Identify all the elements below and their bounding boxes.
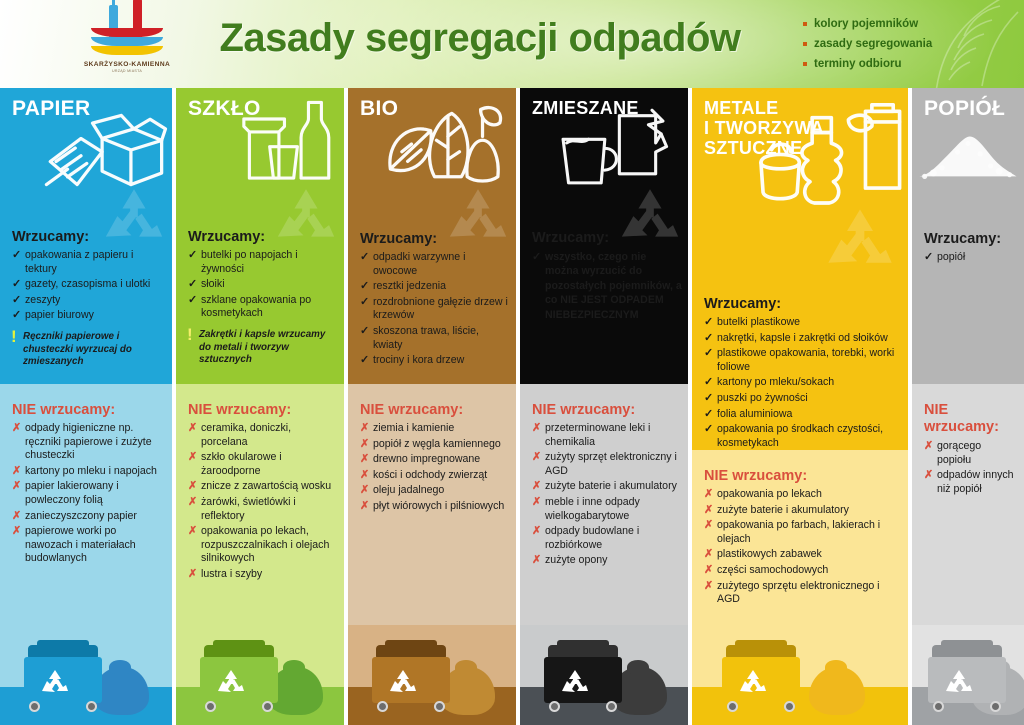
yes-list-item: ✓resztki jedzenia bbox=[360, 280, 510, 294]
no-item-label: kartony po mleku i napojach bbox=[25, 465, 157, 477]
yes-section-heading: Wrzucamy: bbox=[912, 231, 1024, 251]
no-list-item: ✗zużyty sprzęt elektroniczny i AGD bbox=[532, 451, 682, 478]
no-item-label: ceramika, doniczki, porcelana bbox=[201, 422, 291, 448]
no-list-item: ✗zużyte baterie i akumulatory bbox=[532, 480, 682, 494]
warning-note-text: Ręczniki papierowe i chusteczki wyrzucaj… bbox=[23, 331, 132, 367]
waste-segregation-poster: SKARŻYSKO-KAMIENNA URZĄD MIASTA Zasady s… bbox=[0, 0, 1024, 725]
cross-icon: ✗ bbox=[360, 469, 369, 483]
yes-item-label: nakrętki, kapsle i zakrętki od słoików bbox=[717, 332, 888, 344]
no-heading-line2: wrzucamy: bbox=[924, 419, 999, 435]
no-item-list: ✗gorącego popiołu✗odpadów innych niż pop… bbox=[912, 440, 1024, 496]
category-column-popiol: POPIÓŁ Wrzucamy:✓popiółNIEwrzucamy:✗gorą… bbox=[912, 88, 1024, 725]
warning-note-text: Zakrętki i kapsle wrzucamy do metali i t… bbox=[199, 329, 325, 365]
no-list-item: ✗papier lakierowany i powleczony folią bbox=[12, 480, 166, 507]
category-title: PAPIER bbox=[0, 88, 172, 119]
recycle-symbol-icon bbox=[216, 669, 246, 695]
yes-item-label: trociny i kora drzew bbox=[373, 354, 464, 366]
yes-item-list: ✓popiół bbox=[912, 251, 1024, 265]
no-list-item: ✗opakowania po farbach, lakierach i olej… bbox=[704, 519, 902, 546]
cross-icon: ✗ bbox=[704, 488, 713, 502]
no-list-item: ✗przeterminowane leki i chemikalia bbox=[532, 422, 682, 449]
no-section-heading: NIE wrzucamy: bbox=[176, 384, 344, 422]
cross-icon: ✗ bbox=[532, 480, 541, 494]
yes-item-label: resztki jedzenia bbox=[373, 280, 446, 292]
no-item-label: zużyty sprzęt elektroniczny i AGD bbox=[545, 451, 677, 477]
no-item-label: przeterminowane leki i chemikalia bbox=[545, 422, 650, 448]
no-list-item: ✗odpady budowlane i rozbiórkowe bbox=[532, 525, 682, 552]
bin-illustration bbox=[0, 625, 172, 725]
cross-icon: ✗ bbox=[532, 525, 541, 539]
exclamation-icon: ! bbox=[11, 330, 17, 344]
column-divider bbox=[172, 88, 176, 725]
broken-mug-icon bbox=[554, 106, 672, 203]
check-icon: ✓ bbox=[360, 296, 369, 310]
yes-section-heading: Wrzucamy: bbox=[0, 229, 172, 249]
yes-item-label: butelki plastikowe bbox=[717, 316, 800, 328]
city-logo: SKARŻYSKO-KAMIENNA URZĄD MIASTA bbox=[78, 7, 176, 83]
yes-item-label: popiół bbox=[937, 251, 965, 263]
yes-list-item: ✓opakowania po środkach czystości, kosme… bbox=[704, 423, 902, 450]
yes-section-heading: Wrzucamy: bbox=[348, 231, 516, 251]
cross-icon: ✗ bbox=[704, 580, 713, 594]
cross-icon: ✗ bbox=[188, 451, 197, 465]
no-item-label: zużyte baterie i akumulatory bbox=[717, 504, 849, 516]
exclamation-icon: ! bbox=[187, 328, 193, 342]
recycle-symbol-icon bbox=[40, 669, 70, 695]
yes-list-item: ✓wszystko, czego nie można wyrzucić do p… bbox=[532, 250, 682, 322]
yes-list-item: ✓gazety, czasopisma i ulotki bbox=[12, 278, 166, 292]
yes-item-label: kartony po mleku/sokach bbox=[717, 376, 834, 388]
cross-icon: ✗ bbox=[532, 496, 541, 510]
no-item-label: opakowania po lekach, rozpuszczalnikach … bbox=[201, 525, 329, 564]
yes-list-item: ✓zeszyty bbox=[12, 294, 166, 308]
column-top-panel: PAPIER Wrzucamy:✓opakowania z papieru i … bbox=[0, 88, 172, 384]
yes-list-item: ✓skoszona trawa, liście, kwiaty bbox=[360, 325, 510, 352]
no-item-label: zanieczyszczony papier bbox=[25, 510, 137, 522]
cross-icon: ✗ bbox=[188, 496, 197, 510]
no-list-item: ✗ceramika, doniczki, porcelana bbox=[188, 422, 338, 449]
yes-list-item: ✓puszki po żywności bbox=[704, 392, 902, 406]
no-item-label: zużyte baterie i akumulatory bbox=[545, 480, 677, 492]
cross-icon: ✗ bbox=[12, 422, 21, 436]
yes-section-heading: Wrzucamy: bbox=[176, 229, 344, 249]
no-list-item: ✗meble i inne odpady wielkogabarytowe bbox=[532, 496, 682, 523]
no-list-item: ✗lustra i szyby bbox=[188, 568, 338, 582]
waste-bin bbox=[722, 645, 800, 711]
no-section-heading: NIE wrzucamy: bbox=[692, 450, 908, 488]
cross-icon: ✗ bbox=[12, 480, 21, 494]
column-top-panel: ZMIESZANE Wrzucamy:✓wszystko, czego nie … bbox=[520, 88, 688, 384]
yes-list-item: ✓odpadki warzywne i owocowe bbox=[360, 251, 510, 278]
no-item-label: płyt wiórowych i pilśniowych bbox=[373, 500, 504, 512]
no-list-item: ✗zużytego sprzętu elektronicznego i AGD bbox=[704, 580, 902, 607]
category-title: ZMIESZANE bbox=[520, 88, 688, 118]
no-list-item: ✗żarówki, świetlówki i reflektory bbox=[188, 496, 338, 523]
yes-list-item: ✓kartony po mleku/sokach bbox=[704, 376, 902, 390]
recycle-symbol-icon bbox=[944, 669, 974, 695]
header-bullet-item: zasady segregowania bbox=[802, 34, 972, 54]
column-top-panel: METALEI TWORZYWASZTUCZNE Wrzucamy:✓butel… bbox=[692, 88, 908, 450]
check-icon: ✓ bbox=[704, 423, 713, 437]
no-item-label: odpadów innych niż popiół bbox=[937, 469, 1014, 495]
check-icon: ✓ bbox=[188, 278, 197, 292]
yes-list-item: ✓plastikowe opakowania, torebki, worki f… bbox=[704, 347, 902, 374]
no-list-item: ✗zużyte baterie i akumulatory bbox=[704, 504, 902, 518]
no-heading-line1: NIE bbox=[924, 402, 948, 418]
yes-item-list: ✓wszystko, czego nie można wyrzucić do p… bbox=[520, 250, 688, 322]
no-section-heading: NIEwrzucamy: bbox=[912, 384, 1024, 440]
check-icon: ✓ bbox=[188, 294, 197, 308]
category-title: BIO bbox=[348, 88, 516, 119]
header-bullet-list: kolory pojemników zasady segregowania te… bbox=[802, 14, 972, 74]
waste-bin bbox=[372, 645, 450, 711]
bin-illustration bbox=[692, 625, 908, 725]
page-title: Zasady segregacji odpadów bbox=[180, 16, 780, 61]
bin-illustration bbox=[520, 625, 688, 725]
no-section-heading: NIE wrzucamy: bbox=[348, 384, 516, 422]
no-item-list: ✗ceramika, doniczki, porcelana✗szkło oku… bbox=[176, 422, 344, 582]
yes-item-label: butelki po napojach i żywności bbox=[201, 249, 298, 275]
no-list-item: ✗szkło okularowe i żaroodporne bbox=[188, 451, 338, 478]
no-item-label: lustra i szyby bbox=[201, 568, 262, 580]
check-icon: ✓ bbox=[360, 325, 369, 339]
warning-note: !Zakrętki i kapsle wrzucamy do metali i … bbox=[188, 329, 334, 367]
category-title: SZKŁO bbox=[176, 88, 344, 119]
yes-section-heading: Wrzucamy: bbox=[692, 296, 908, 316]
waste-bag bbox=[809, 667, 865, 715]
cross-icon: ✗ bbox=[532, 422, 541, 436]
ash-pile-icon bbox=[916, 122, 1020, 189]
no-item-label: oleju jadalnego bbox=[373, 484, 444, 496]
no-item-label: papierowe worki po nawozach i materiałac… bbox=[25, 525, 136, 564]
cross-icon: ✗ bbox=[12, 525, 21, 539]
category-column-metale: METALEI TWORZYWASZTUCZNE Wrzucamy:✓butel… bbox=[692, 88, 908, 725]
column-top-panel: BIO Wrzucamy:✓odpadki warzywne i owocowe… bbox=[348, 88, 516, 384]
column-divider bbox=[908, 88, 912, 725]
bin-illustration bbox=[348, 625, 516, 725]
no-item-list: ✗ziemia i kamienie✗popiół z węgla kamien… bbox=[348, 422, 516, 514]
no-list-item: ✗gorącego popiołu bbox=[924, 440, 1018, 467]
yes-list-item: ✓trociny i kora drzew bbox=[360, 354, 510, 368]
no-list-item: ✗drewno impregnowane bbox=[360, 453, 510, 467]
yes-item-label: opakowania z papieru i tektury bbox=[25, 249, 133, 275]
yes-list-item: ✓butelki plastikowe bbox=[704, 316, 902, 330]
no-item-label: papier lakierowany i powleczony folią bbox=[25, 480, 119, 506]
no-list-item: ✗ziemia i kamienie bbox=[360, 422, 510, 436]
no-item-label: odpady higieniczne np. ręczniki papierow… bbox=[25, 422, 152, 461]
cross-icon: ✗ bbox=[924, 469, 933, 483]
check-icon: ✓ bbox=[924, 251, 933, 265]
no-list-item: ✗opakowania po lekach bbox=[704, 488, 902, 502]
logo-mark-icon bbox=[81, 7, 173, 59]
column-divider bbox=[516, 88, 520, 725]
no-item-list: ✗opakowania po lekach✗zużyte baterie i a… bbox=[692, 488, 908, 607]
cross-icon: ✗ bbox=[188, 422, 197, 436]
check-icon: ✓ bbox=[12, 294, 21, 308]
yes-item-label: puszki po żywności bbox=[717, 392, 808, 404]
cross-icon: ✗ bbox=[924, 440, 933, 454]
cross-icon: ✗ bbox=[188, 480, 197, 494]
yes-list-item: ✓szklane opakowania po kosmetykach bbox=[188, 294, 338, 321]
check-icon: ✓ bbox=[704, 376, 713, 390]
waste-bin bbox=[200, 645, 278, 711]
column-top-panel: SZKŁO Wrzucamy:✓butelki po napojach i ży… bbox=[176, 88, 344, 384]
column-divider bbox=[344, 88, 348, 725]
yes-list-item: ✓słoiki bbox=[188, 278, 338, 292]
no-item-label: ziemia i kamienie bbox=[373, 422, 454, 434]
no-list-item: ✗odpady higieniczne np. ręczniki papiero… bbox=[12, 422, 166, 463]
no-list-item: ✗popiół z węgla kamiennego bbox=[360, 438, 510, 452]
no-list-item: ✗zanieczyszczony papier bbox=[12, 510, 166, 524]
recycle-symbol-icon bbox=[388, 669, 418, 695]
check-icon: ✓ bbox=[12, 249, 21, 263]
no-list-item: ✗plastikowych zabawek bbox=[704, 548, 902, 562]
yes-list-item: ✓rozdrobnione gałęzie drzew i krzewów bbox=[360, 296, 510, 323]
no-item-list: ✗przeterminowane leki i chemikalia✗zużyt… bbox=[520, 422, 688, 568]
yes-item-label: gazety, czasopisma i ulotki bbox=[25, 278, 150, 290]
category-column-zmieszane: ZMIESZANE Wrzucamy:✓wszystko, czego nie … bbox=[520, 88, 688, 725]
no-item-label: plastikowych zabawek bbox=[717, 548, 822, 560]
cross-icon: ✗ bbox=[360, 422, 369, 436]
yes-list-item: ✓folia aluminiowa bbox=[704, 408, 902, 422]
check-icon: ✓ bbox=[704, 316, 713, 330]
check-icon: ✓ bbox=[360, 280, 369, 294]
no-list-item: ✗kości i odchody zwierząt bbox=[360, 469, 510, 483]
no-item-label: popiół z węgla kamiennego bbox=[373, 438, 501, 450]
yes-item-label: wszystko, czego nie można wyrzucić do po… bbox=[545, 251, 682, 321]
logo-city-name: SKARŻYSKO-KAMIENNA bbox=[78, 61, 176, 68]
no-item-label: odpady budowlane i rozbiórkowe bbox=[545, 525, 639, 551]
poster-header: SKARŻYSKO-KAMIENNA URZĄD MIASTA Zasady s… bbox=[0, 0, 1024, 88]
check-icon: ✓ bbox=[704, 332, 713, 346]
no-item-label: szkło okularowe i żaroodporne bbox=[201, 451, 282, 477]
yes-item-label: opakowania po środkach czystości, kosmet… bbox=[717, 423, 883, 449]
check-icon: ✓ bbox=[360, 354, 369, 368]
cross-icon: ✗ bbox=[360, 453, 369, 467]
yes-item-list: ✓butelki po napojach i żywności✓słoiki✓s… bbox=[176, 249, 344, 321]
no-item-label: żarówki, świetlówki i reflektory bbox=[201, 496, 296, 522]
yes-item-label: szklane opakowania po kosmetykach bbox=[201, 294, 311, 320]
waste-bin bbox=[928, 645, 1006, 711]
category-column-szklo: SZKŁO Wrzucamy:✓butelki po napojach i ży… bbox=[176, 88, 344, 725]
check-icon: ✓ bbox=[12, 309, 21, 323]
no-item-label: opakowania po farbach, lakierach i oleja… bbox=[717, 519, 880, 545]
yes-item-label: słoiki bbox=[201, 278, 225, 290]
no-item-label: znicze z zawartością wosku bbox=[201, 480, 331, 492]
yes-item-label: rozdrobnione gałęzie drzew i krzewów bbox=[373, 296, 508, 322]
yes-item-label: odpadki warzywne i owocowe bbox=[373, 251, 465, 277]
no-section-heading: NIE wrzucamy: bbox=[520, 384, 688, 422]
no-list-item: ✗papierowe worki po nawozach i materiała… bbox=[12, 525, 166, 566]
column-top-panel: POPIÓŁ Wrzucamy:✓popiół bbox=[912, 88, 1024, 384]
cross-icon: ✗ bbox=[704, 519, 713, 533]
header-bullet-item: terminy odbioru bbox=[802, 54, 972, 74]
waste-bin bbox=[24, 645, 102, 711]
cross-icon: ✗ bbox=[12, 465, 21, 479]
cross-icon: ✗ bbox=[704, 564, 713, 578]
waste-bin bbox=[544, 645, 622, 711]
no-item-label: zużytego sprzętu elektronicznego i AGD bbox=[717, 580, 880, 606]
yes-item-label: skoszona trawa, liście, kwiaty bbox=[373, 325, 479, 351]
yes-list-item: ✓popiół bbox=[924, 251, 1018, 265]
no-item-label: części samochodowych bbox=[717, 564, 828, 576]
no-list-item: ✗opakowania po lekach, rozpuszczalnikach… bbox=[188, 525, 338, 566]
yes-item-list: ✓odpadki warzywne i owocowe✓resztki jedz… bbox=[348, 251, 516, 368]
check-icon: ✓ bbox=[188, 249, 197, 263]
no-list-item: ✗kartony po mleku i napojach bbox=[12, 465, 166, 479]
check-icon: ✓ bbox=[532, 250, 541, 264]
cross-icon: ✗ bbox=[532, 451, 541, 465]
cross-icon: ✗ bbox=[188, 568, 197, 582]
yes-item-label: plastikowe opakowania, torebki, worki fo… bbox=[717, 347, 894, 373]
no-item-label: opakowania po lekach bbox=[717, 488, 822, 500]
yes-item-label: folia aluminiowa bbox=[717, 408, 792, 420]
no-item-label: drewno impregnowane bbox=[373, 453, 480, 465]
check-icon: ✓ bbox=[360, 251, 369, 265]
yes-item-label: papier biurowy bbox=[25, 309, 94, 321]
category-column-papier: PAPIER Wrzucamy:✓opakowania z papieru i … bbox=[0, 88, 172, 725]
no-list-item: ✗zużyte opony bbox=[532, 554, 682, 568]
header-bullet-item: kolory pojemników bbox=[802, 14, 972, 34]
no-list-item: ✗znicze z zawartością wosku bbox=[188, 480, 338, 494]
cross-icon: ✗ bbox=[360, 438, 369, 452]
no-item-label: zużyte opony bbox=[545, 554, 607, 566]
no-item-label: meble i inne odpady wielkogabarytowe bbox=[545, 496, 640, 522]
yes-item-label: zeszyty bbox=[25, 294, 60, 306]
cross-icon: ✗ bbox=[360, 500, 369, 514]
check-icon: ✓ bbox=[704, 392, 713, 406]
cross-icon: ✗ bbox=[704, 548, 713, 562]
yes-list-item: ✓papier biurowy bbox=[12, 309, 166, 323]
cross-icon: ✗ bbox=[532, 554, 541, 568]
check-icon: ✓ bbox=[704, 347, 713, 361]
bin-illustration bbox=[912, 625, 1024, 725]
logo-city-sub: URZĄD MIASTA bbox=[78, 69, 176, 73]
cross-icon: ✗ bbox=[704, 504, 713, 518]
warning-note: !Ręczniki papierowe i chusteczki wyrzuca… bbox=[12, 331, 162, 369]
category-column-bio: BIO Wrzucamy:✓odpadki warzywne i owocowe… bbox=[348, 88, 516, 725]
no-list-item: ✗oleju jadalnego bbox=[360, 484, 510, 498]
check-icon: ✓ bbox=[704, 408, 713, 422]
no-list-item: ✗płyt wiórowych i pilśniowych bbox=[360, 500, 510, 514]
column-divider bbox=[688, 88, 692, 725]
yes-section-heading: Wrzucamy: bbox=[520, 230, 688, 250]
yes-item-list: ✓butelki plastikowe✓nakrętki, kapsle i z… bbox=[692, 316, 908, 450]
check-icon: ✓ bbox=[12, 278, 21, 292]
recycle-symbol-icon bbox=[560, 669, 590, 695]
category-title: METALEI TWORZYWASZTUCZNE bbox=[692, 88, 908, 158]
category-title: POPIÓŁ bbox=[912, 88, 1024, 119]
bin-illustration bbox=[176, 625, 344, 725]
no-item-label: kości i odchody zwierząt bbox=[373, 469, 487, 481]
no-item-label: gorącego popiołu bbox=[937, 440, 981, 466]
no-list-item: ✗części samochodowych bbox=[704, 564, 902, 578]
yes-list-item: ✓nakrętki, kapsle i zakrętki od słoików bbox=[704, 332, 902, 346]
yes-list-item: ✓butelki po napojach i żywności bbox=[188, 249, 338, 276]
yes-list-item: ✓opakowania z papieru i tektury bbox=[12, 249, 166, 276]
no-list-item: ✗odpadów innych niż popiół bbox=[924, 469, 1018, 496]
recycle-symbol-icon bbox=[738, 669, 768, 695]
cross-icon: ✗ bbox=[188, 525, 197, 539]
no-item-list: ✗odpady higieniczne np. ręczniki papiero… bbox=[0, 422, 172, 566]
cross-icon: ✗ bbox=[12, 510, 21, 524]
yes-item-list: ✓opakowania z papieru i tektury✓gazety, … bbox=[0, 249, 172, 323]
cross-icon: ✗ bbox=[360, 484, 369, 498]
no-section-heading: NIE wrzucamy: bbox=[0, 384, 172, 422]
